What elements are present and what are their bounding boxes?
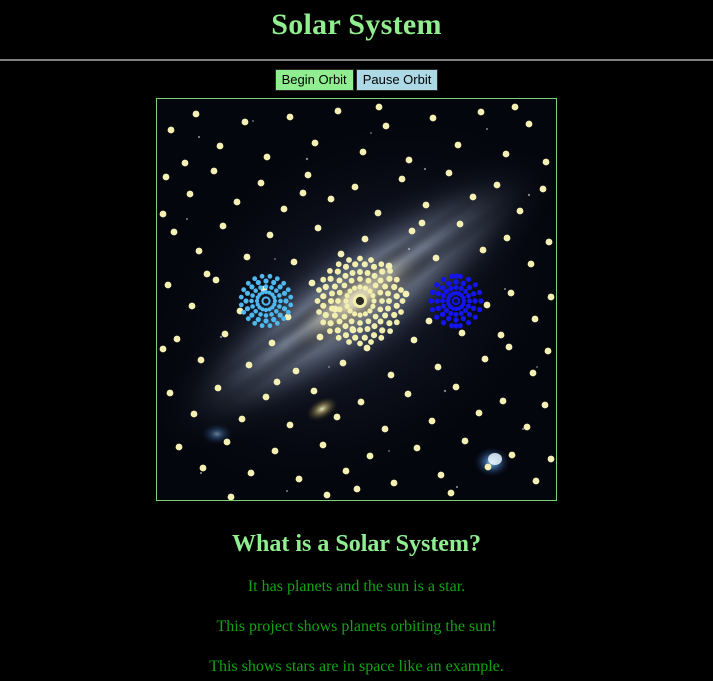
orbit-controls: Begin OrbitPause Orbit [0,69,713,91]
body-line-3: This shows stars are in space like an ex… [0,636,713,676]
orbiting-bodies-layer [157,99,556,500]
begin-orbit-button[interactable]: Begin Orbit [275,69,354,91]
pause-orbit-button[interactable]: Pause Orbit [356,69,439,91]
page-title: Solar System [0,0,713,40]
body-line-2: This project shows planets orbiting the … [0,596,713,636]
body-line-1: It has planets and the sun is a star. [0,556,713,596]
planet-outer-blue [428,273,483,328]
sun [315,256,406,347]
scene-container [0,98,713,506]
planet-inner-lightblue [239,274,293,328]
section-heading: What is a Solar System? [0,506,713,556]
title-divider [0,59,713,61]
solar-system-canvas[interactable] [156,98,557,501]
